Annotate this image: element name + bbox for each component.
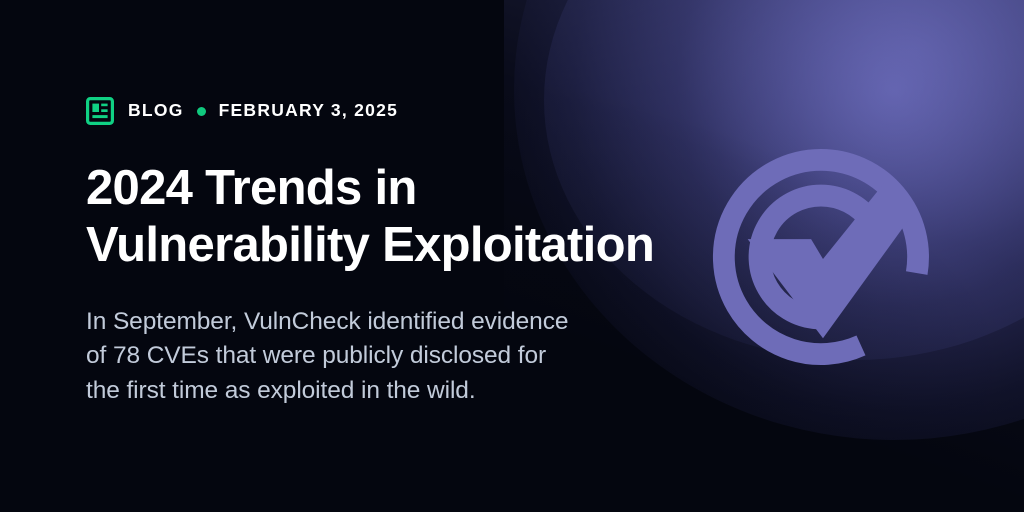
- headline-line-2: Vulnerability Exploitation: [86, 218, 654, 272]
- subtext-line-2: of 78 CVEs that were publicly disclosed …: [86, 342, 546, 369]
- blog-social-card: BLOG FEBRUARY 3, 2025 2024 Trends in Vul…: [0, 0, 1024, 512]
- publish-date: FEBRUARY 3, 2025: [219, 102, 399, 120]
- page-description: In September, VulnCheck identified evide…: [86, 305, 686, 409]
- subtext-line-3: the first time as exploited in the wild.: [86, 377, 476, 404]
- vulncheck-logo: [712, 148, 930, 366]
- meta-row: BLOG FEBRUARY 3, 2025: [86, 96, 706, 126]
- blog-category-label: BLOG: [128, 102, 184, 120]
- card-content: BLOG FEBRUARY 3, 2025 2024 Trends in Vul…: [86, 96, 706, 409]
- meta-text-group: BLOG FEBRUARY 3, 2025: [128, 102, 398, 120]
- page-title: 2024 Trends in Vulnerability Exploitatio…: [86, 160, 686, 274]
- headline-line-1: 2024 Trends in: [86, 161, 417, 215]
- blog-article-icon: [86, 97, 114, 125]
- bullet-dot-icon: [197, 107, 206, 116]
- subtext-line-1: In September, VulnCheck identified evide…: [86, 308, 568, 335]
